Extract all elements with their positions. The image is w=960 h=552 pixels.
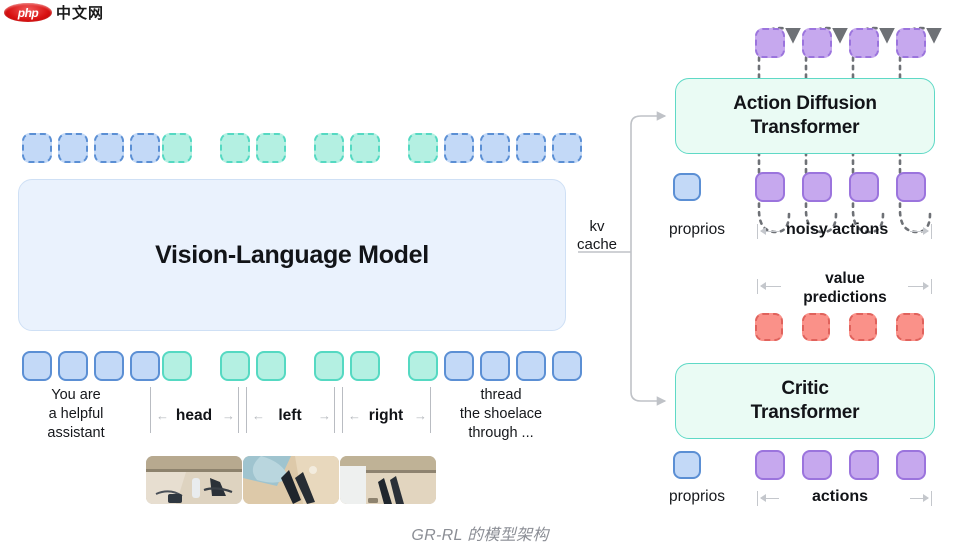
vlm-output-token-3[interactable] [94, 133, 124, 163]
action-diffusion-transformer-box[interactable]: Action Diffusion Transformer [675, 78, 935, 154]
vlm-input-token-7[interactable] [256, 351, 286, 381]
left-right-arrow-icon: → [318, 409, 331, 422]
vlm-input-token-13[interactable] [516, 351, 546, 381]
vlm-output-token-11[interactable] [444, 133, 474, 163]
segment-divider-4 [334, 387, 335, 433]
value-prediction-token-4[interactable] [896, 313, 924, 341]
vlm-output-token-10[interactable] [408, 133, 438, 163]
denoised-action-token-1[interactable] [755, 28, 785, 58]
vlm-input-token-2[interactable] [58, 351, 88, 381]
vlm-input-token-6[interactable] [220, 351, 250, 381]
right-right-arrow-icon: → [414, 409, 427, 422]
value-prediction-token-2[interactable] [802, 313, 830, 341]
critic-transformer-label: Critic Transformer [751, 377, 860, 425]
proprios-label-critic: proprios [669, 488, 725, 506]
noisy-action-token-4[interactable] [896, 172, 926, 202]
vlm-input-token-12[interactable] [480, 351, 510, 381]
segment-label-system-prompt: You are a helpful assistant [20, 386, 132, 443]
vlm-output-token-13[interactable] [516, 133, 546, 163]
vlm-input-token-4[interactable] [130, 351, 160, 381]
denoised-action-token-3[interactable] [849, 28, 879, 58]
camera-view-left[interactable] [243, 456, 339, 504]
vlm-output-token-8[interactable] [314, 133, 344, 163]
actions-label: actions [812, 488, 868, 506]
segment-divider-6 [430, 387, 431, 433]
noisy-action-token-1[interactable] [755, 172, 785, 202]
camera-view-head[interactable] [146, 456, 242, 504]
vlm-output-token-2[interactable] [58, 133, 88, 163]
action-token-4[interactable] [896, 450, 926, 480]
vlm-input-token-5[interactable] [162, 351, 192, 381]
segment-label-instruction: thread the shoelace through ... [434, 386, 568, 443]
proprio-token-diffusion[interactable] [673, 173, 701, 201]
action-token-2[interactable] [802, 450, 832, 480]
vlm-output-token-14[interactable] [552, 133, 582, 163]
noisy-action-token-2[interactable] [802, 172, 832, 202]
site-watermark: php 中文网 [4, 2, 104, 23]
noisy-action-token-3[interactable] [849, 172, 879, 202]
kv-cache-label: kv cache [566, 218, 628, 254]
php-logo-badge: php [4, 3, 52, 22]
left-left-arrow-icon: ← [252, 409, 265, 422]
right-left-arrow-icon: ← [348, 409, 361, 422]
kv-cache-connector [578, 116, 665, 401]
vlm-output-token-9[interactable] [350, 133, 380, 163]
denoised-action-token-4[interactable] [896, 28, 926, 58]
proprio-token-critic[interactable] [673, 451, 701, 479]
proprios-label-diffusion: proprios [669, 221, 725, 239]
action-diffusion-transformer-label: Action Diffusion Transformer [733, 92, 877, 140]
figure-caption: GR-RL 的模型架构 [0, 521, 960, 545]
action-token-3[interactable] [849, 450, 879, 480]
vlm-output-token-12[interactable] [480, 133, 510, 163]
vlm-input-token-8[interactable] [314, 351, 344, 381]
value-prediction-token-1[interactable] [755, 313, 783, 341]
value-prediction-token-3[interactable] [849, 313, 877, 341]
segment-divider-1 [150, 387, 151, 433]
vlm-output-token-1[interactable] [22, 133, 52, 163]
vlm-output-token-4[interactable] [130, 133, 160, 163]
action-token-1[interactable] [755, 450, 785, 480]
vlm-input-token-3[interactable] [94, 351, 124, 381]
critic-transformer-box[interactable]: Critic Transformer [675, 363, 935, 439]
segment-divider-3 [246, 387, 247, 433]
vlm-input-token-1[interactable] [22, 351, 52, 381]
vision-language-model-box[interactable]: Vision-Language Model [18, 179, 566, 331]
segment-divider-2 [238, 387, 239, 433]
head-left-arrow-icon: ← [156, 409, 169, 422]
head-right-arrow-icon: → [222, 409, 235, 422]
denoised-action-token-2[interactable] [802, 28, 832, 58]
vlm-output-token-5[interactable] [162, 133, 192, 163]
vlm-input-token-11[interactable] [444, 351, 474, 381]
vlm-input-token-14[interactable] [552, 351, 582, 381]
vision-language-model-label: Vision-Language Model [155, 241, 429, 270]
vlm-output-token-6[interactable] [220, 133, 250, 163]
vlm-input-token-9[interactable] [350, 351, 380, 381]
value-predictions-label: value predictions [787, 269, 903, 308]
watermark-text: 中文网 [56, 2, 104, 23]
vlm-input-token-10[interactable] [408, 351, 438, 381]
vlm-output-token-7[interactable] [256, 133, 286, 163]
segment-divider-5 [342, 387, 343, 433]
camera-view-right[interactable] [340, 456, 436, 504]
noisy-actions-label: noisy actions [786, 221, 888, 239]
